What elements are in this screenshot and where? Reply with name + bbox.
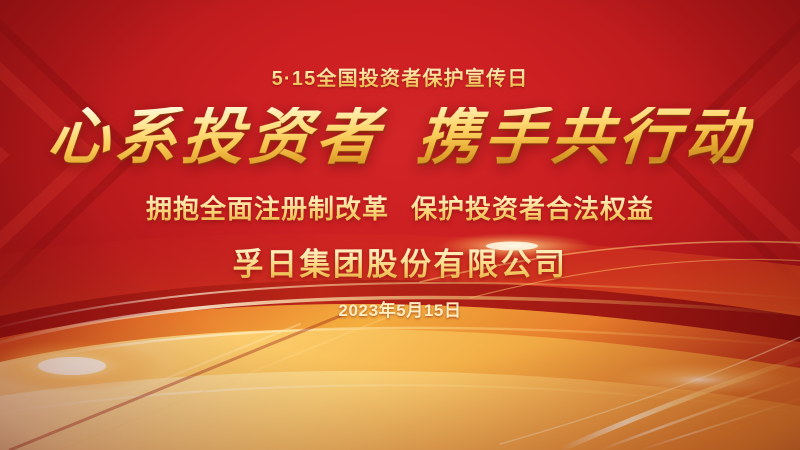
kicker-line: 5·15全国投资者保护宣传日 [0, 0, 800, 91]
headline-calligraphy: 心系投资者携手共行动 [45, 107, 754, 169]
poster-canvas: 5·15全国投资者保护宣传日 心系投资者携手共行动 拥抱全面注册制改革保护投资者… [0, 0, 800, 450]
date-row: 2023年5月15日 [0, 284, 800, 321]
headline-row: 心系投资者携手共行动 [0, 107, 800, 169]
subline-part-1: 拥抱全面注册制改革 [146, 194, 389, 224]
company-name: 孚日集团股份有限公司 [233, 239, 568, 284]
poster-text-block: 5·15全国投资者保护宣传日 心系投资者携手共行动 拥抱全面注册制改革保护投资者… [0, 0, 800, 321]
subline-row: 拥抱全面注册制改革保护投资者合法权益 [0, 169, 800, 226]
subline-text: 拥抱全面注册制改革保护投资者合法权益 [146, 189, 654, 226]
event-date: 2023年5月15日 [338, 296, 461, 321]
headline-part-2: 携手共行动 [414, 104, 755, 172]
headline-part-1: 心系投资者 [45, 104, 386, 172]
kicker-text: 5·15全国投资者保护宣传日 [272, 62, 529, 91]
subline-part-2: 保护投资者合法权益 [411, 194, 654, 224]
company-row: 孚日集团股份有限公司 [0, 226, 800, 284]
